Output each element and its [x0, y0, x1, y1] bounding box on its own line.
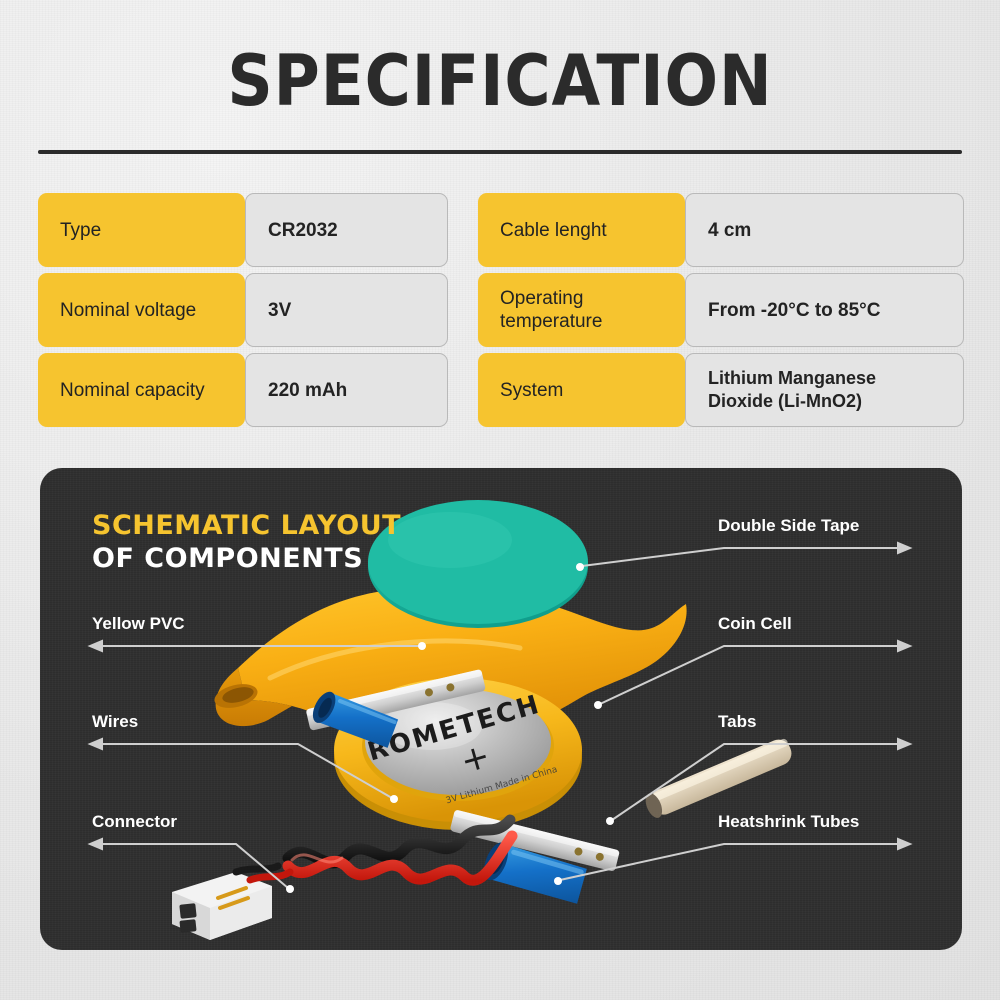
spec-key-system: System: [478, 353, 685, 427]
callout-label-wires: Wires: [92, 712, 138, 732]
schematic-panel: SCHEMATIC LAYOUT OF COMPONENTS: [40, 468, 962, 950]
connector-part: [172, 866, 290, 940]
callout-label-coin-cell: Coin Cell: [718, 614, 792, 634]
callout-label-tabs: Tabs: [718, 712, 756, 732]
spec-value-cable-lenght: 4 cm: [685, 193, 964, 267]
callout-label-connector: Connector: [92, 812, 177, 832]
spec-key-type: Type: [38, 193, 245, 267]
spec-value-nominal-voltage: 3V: [245, 273, 448, 347]
spec-value-system: Lithium Manganese Dioxide (Li-MnO2): [685, 353, 964, 427]
title-divider: [38, 150, 962, 154]
spec-value-type: CR2032: [245, 193, 448, 267]
spec-value-nominal-capacity: 220 mAh: [245, 353, 448, 427]
spec-value-operating-temperature: From -20°C to 85°C: [685, 273, 964, 347]
spec-key-cable-lenght: Cable lenght: [478, 193, 685, 267]
callout-label-heatshrink-tubes: Heatshrink Tubes: [718, 812, 859, 832]
schematic-heading: SCHEMATIC LAYOUT OF COMPONENTS: [92, 510, 401, 576]
schematic-heading-line1: SCHEMATIC LAYOUT: [92, 510, 401, 542]
callout-label-yellow-pvc: Yellow PVC: [92, 614, 185, 634]
schematic-heading-line2: OF COMPONENTS: [92, 542, 401, 576]
specification-table: Type CR2032 Cable lenght 4 cm Nominal vo…: [38, 193, 964, 433]
spec-key-nominal-capacity: Nominal capacity: [38, 353, 245, 427]
spec-key-nominal-voltage: Nominal voltage: [38, 273, 245, 347]
leader-double-side-tape: [576, 543, 910, 571]
page-title: SPECIFICATION: [50, 44, 950, 118]
callout-label-double-side-tape: Double Side Tape: [718, 516, 859, 536]
wires-part: [288, 820, 512, 880]
spec-key-operating-temperature: Operating temperature: [478, 273, 685, 347]
